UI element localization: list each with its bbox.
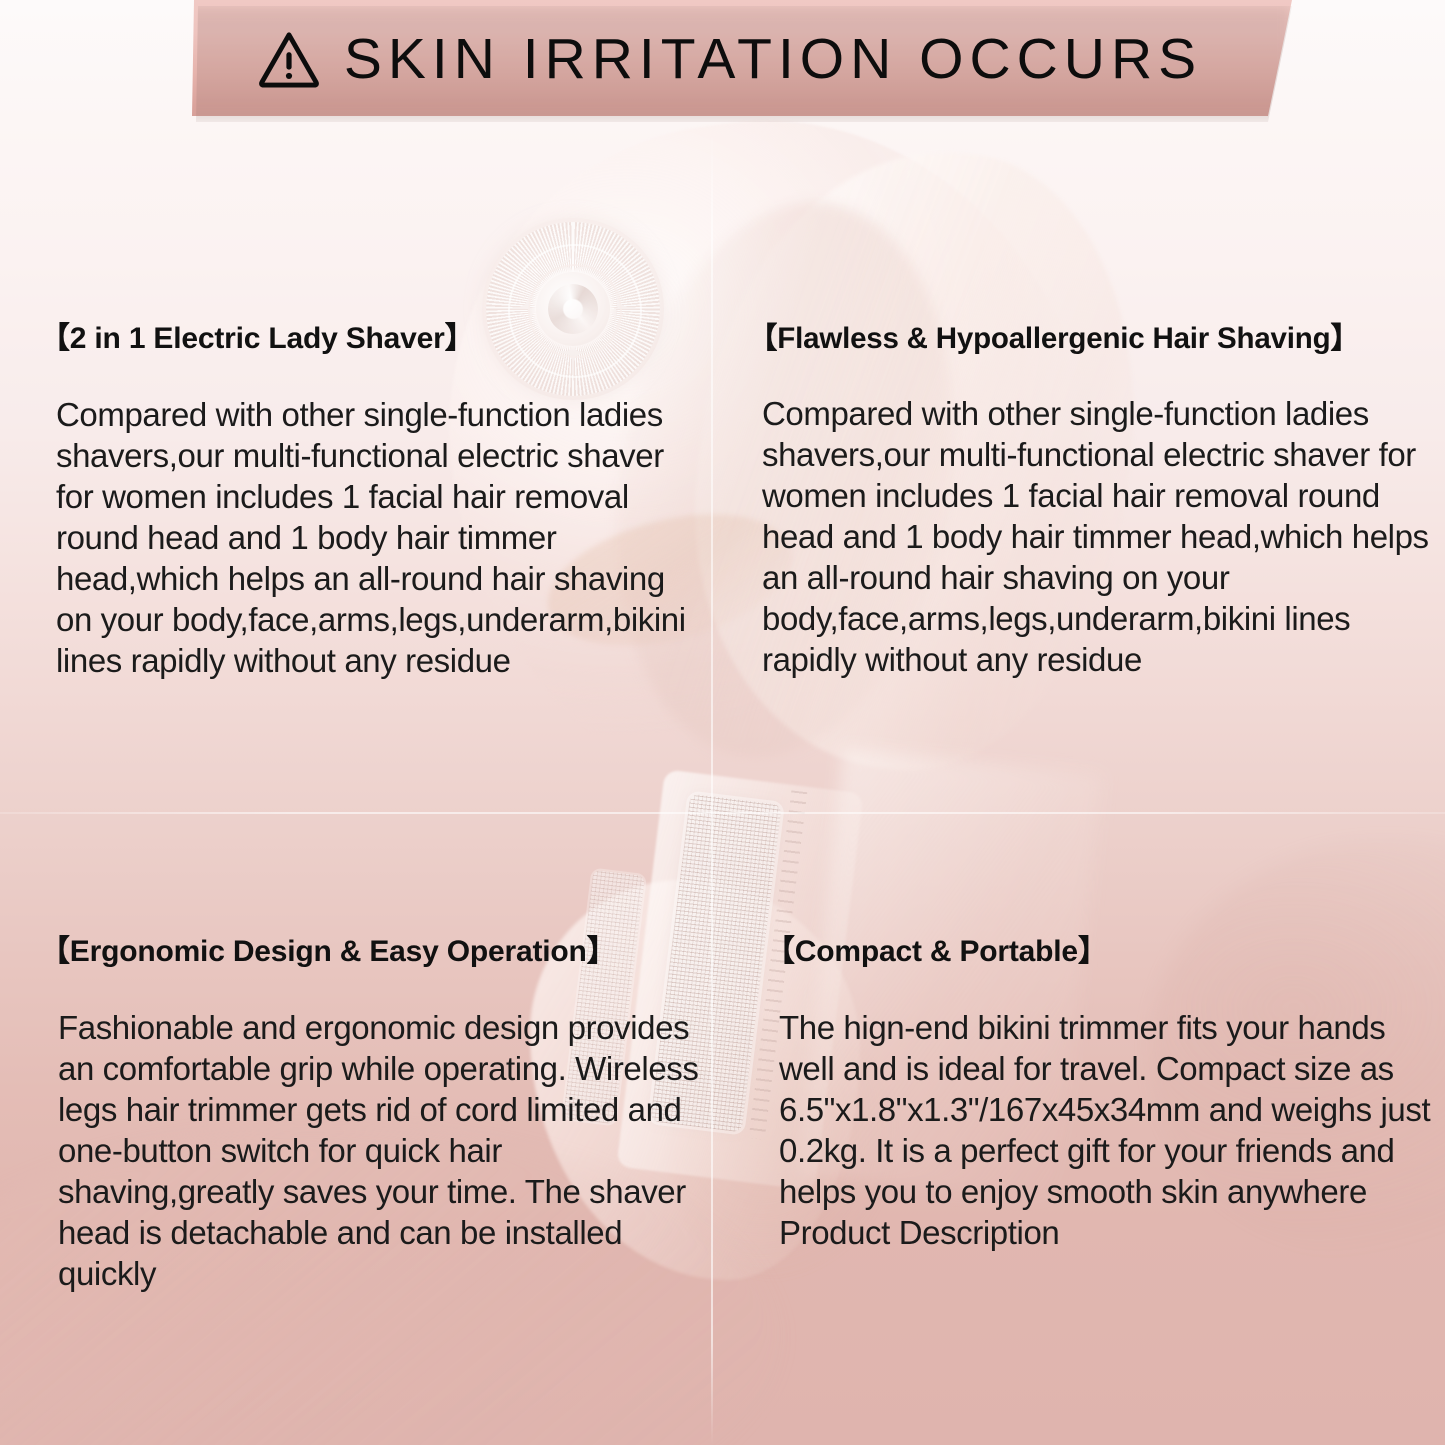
feature-grid: 【2 in 1 Electric Lady Shaver】 Compared w… (0, 0, 1445, 1445)
product-infographic-page: SKIN IRRITATION OCCURS 【2 in 1 Electric … (0, 0, 1445, 1445)
feature-body: Fashionable and ergonomic design provide… (40, 1007, 700, 1294)
feature-body: Compared with other single-function ladi… (40, 394, 700, 681)
feature-heading: 【2 in 1 Electric Lady Shaver】 (40, 322, 700, 356)
feature-body: Compared with other single-function ladi… (748, 393, 1438, 680)
feature-heading: 【Ergonomic Design & Easy Operation】 (40, 935, 700, 969)
feature-heading: 【Compact & Portable】 (765, 935, 1435, 969)
feature-heading: 【Flawless & Hypoallergenic Hair Shaving】 (748, 322, 1438, 355)
feature-body: The hign-end bikini trimmer fits your ha… (765, 1007, 1435, 1253)
feature-block-ergonomic-design: 【Ergonomic Design & Easy Operation】 Fash… (40, 935, 700, 1294)
feature-block-flawless-hypoallergenic: 【Flawless & Hypoallergenic Hair Shaving】… (748, 322, 1438, 680)
feature-block-electric-lady-shaver: 【2 in 1 Electric Lady Shaver】 Compared w… (40, 322, 700, 681)
feature-block-compact-portable: 【Compact & Portable】 The hign-end bikini… (765, 935, 1435, 1253)
